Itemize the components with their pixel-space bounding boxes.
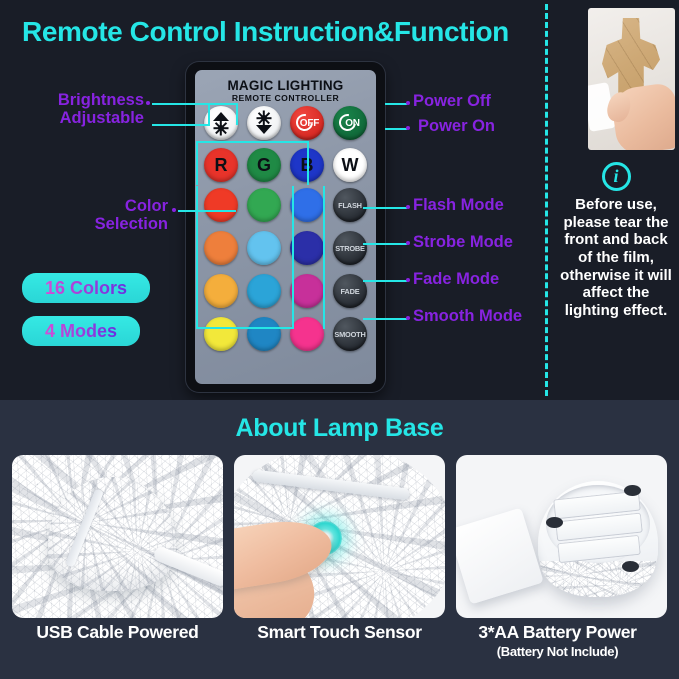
dot-brightness [146, 101, 150, 105]
card-usb-cable [12, 455, 223, 618]
sun-icon [213, 122, 229, 134]
leader-brightness-top [152, 103, 238, 105]
leader-brightness-v1 [208, 103, 210, 125]
leader-brightness-v2 [236, 103, 238, 125]
mode-button-label: SMOOTH [334, 330, 365, 339]
label-power-on: Power On [418, 118, 495, 136]
product-infographic: Remote Control Instruction&Function MAGI… [0, 0, 679, 679]
dot-fade [406, 278, 410, 282]
rubber-foot [622, 561, 639, 572]
leader-brightness-bottom [152, 124, 210, 126]
label-power-off: Power Off [413, 93, 491, 111]
power-on-button[interactable]: ON [333, 106, 367, 140]
label-smooth-mode: Smooth Mode [413, 308, 522, 326]
label-color-selection: Color Selection [4, 198, 168, 234]
function-button-row: OFF ON [204, 106, 367, 140]
brightness-down-icon [247, 106, 281, 140]
caption-touch-sensor: Smart Touch Sensor [234, 622, 445, 643]
label-flash-mode: Flash Mode [413, 197, 504, 215]
card-touch-sensor [234, 455, 445, 618]
leader-strobe [363, 243, 407, 245]
leader-power-off [385, 103, 407, 105]
info-glyph: i [613, 166, 618, 187]
page-title: Remote Control Instruction&Function [22, 16, 509, 48]
dot-strobe [406, 241, 410, 245]
rubber-foot [546, 517, 563, 528]
color-button-8[interactable] [290, 274, 324, 308]
film-peel-photo [588, 8, 675, 150]
info-text: Before use, please tear the front and ba… [556, 196, 676, 320]
remote-brand: MAGIC LIGHTING [195, 78, 376, 93]
dot-power-on [406, 126, 410, 130]
power-ring-icon [293, 111, 317, 135]
power-off-button[interactable]: OFF [290, 106, 324, 140]
bracket-rgbw [196, 141, 309, 185]
sun-icon [256, 112, 272, 124]
label-strobe-mode: Strobe Mode [413, 234, 513, 252]
color-button-2[interactable] [290, 188, 324, 222]
label-brightness-adjustable: Brightness Adjustable [4, 92, 144, 128]
leader-flash [363, 207, 407, 209]
lamp-base-usb [48, 477, 176, 591]
bracket-color-grid [196, 186, 294, 329]
badge-4-modes: 4 Modes [22, 316, 140, 346]
info-icon: i [602, 162, 631, 191]
lamp-base-section: About Lamp Base USB Cable Powered [0, 400, 679, 679]
dot-power-off [406, 101, 410, 105]
color-button-5[interactable] [290, 231, 324, 265]
caption-battery-sub: (Battery Not Include) [452, 644, 663, 659]
badge-4-modes-label: 4 Modes [45, 321, 117, 342]
leader-smooth [363, 318, 407, 320]
leader-fade [363, 280, 407, 282]
card-battery-power [456, 455, 667, 618]
dot-smooth [406, 316, 410, 320]
triangle-down-icon [256, 125, 272, 134]
rgbw-button-label: W [342, 155, 359, 176]
remote-control-section: Remote Control Instruction&Function MAGI… [0, 0, 679, 400]
color-button-11[interactable] [290, 317, 324, 351]
power-ring-icon [336, 111, 360, 135]
badge-16-colors-label: 16 Colors [45, 278, 127, 299]
caption-usb-cable: USB Cable Powered [12, 622, 223, 643]
dot-color-selection [172, 208, 176, 212]
label-fade-mode: Fade Mode [413, 271, 499, 289]
section-title: About Lamp Base [0, 414, 679, 443]
remote-brand-subtitle: REMOTE CONTROLLER [195, 93, 376, 103]
battery-cover [456, 508, 544, 605]
vertical-dashed-divider [545, 4, 548, 396]
rgbw-button-w[interactable]: W [333, 148, 367, 182]
badge-16-colors: 16 Colors [22, 273, 150, 303]
leader-power-on [385, 128, 407, 130]
brightness-down-button[interactable] [247, 106, 281, 140]
caption-battery-main: 3*AA Battery Power [478, 622, 636, 642]
dot-flash [406, 205, 410, 209]
info-panel: i Before use, please tear the front and … [556, 162, 676, 320]
caption-battery-power: 3*AA Battery Power (Battery Not Include) [452, 622, 663, 659]
rubber-foot [624, 485, 641, 496]
bracket-modes [323, 186, 365, 329]
